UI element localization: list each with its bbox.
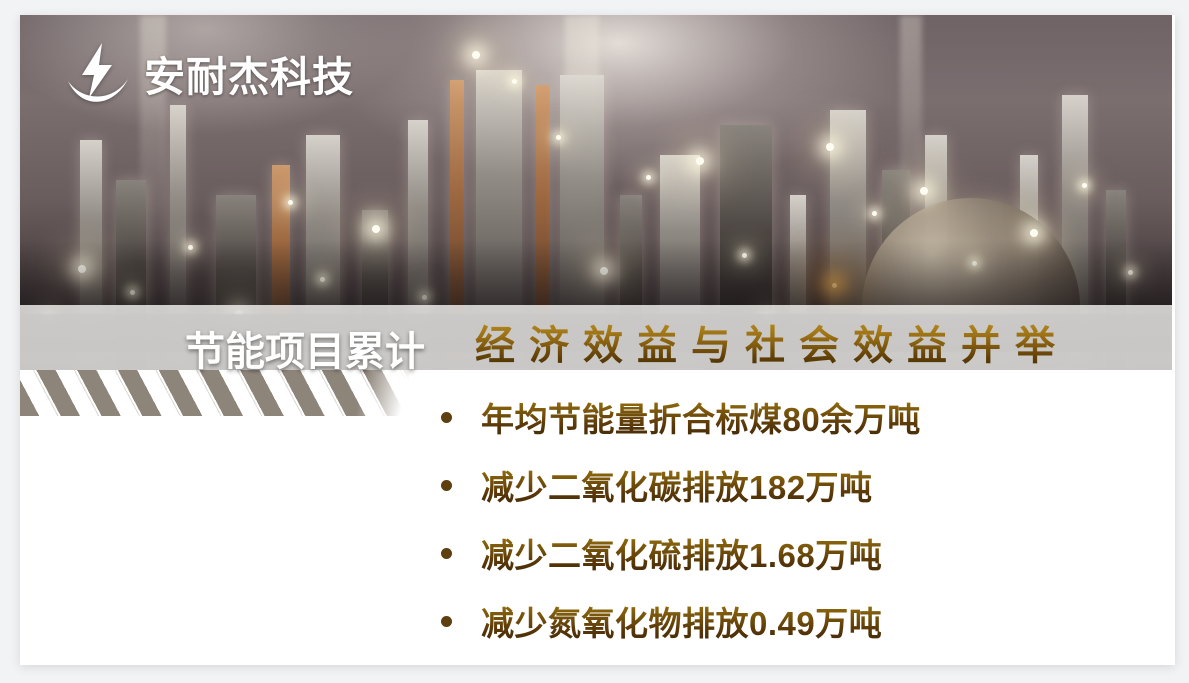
list-item-label: 减少二氧化硫排放1.68万吨 — [481, 529, 882, 577]
list-item-label: 减少二氧化碳排放182万吨 — [481, 461, 873, 509]
hero-image-lamp — [696, 157, 704, 165]
hero-image-lamp — [872, 211, 877, 216]
headline-title: 经济效益与社会效益并举 — [475, 313, 1069, 371]
lightning-bolt-swoosh-icon — [68, 41, 130, 113]
hero-image-lamp — [556, 135, 561, 140]
bullet-list: 年均节能量折合标煤80余万吨 减少二氧化碳排放182万吨 减少二氧化硫排放1.6… — [430, 383, 1130, 655]
bullet-dot-icon — [441, 480, 452, 491]
hero-image-lamp — [1030, 229, 1038, 237]
hero-image-lamp — [372, 225, 380, 233]
kicker-title: 节能项目累计 — [185, 319, 425, 377]
list-item: 减少二氧化硫排放1.68万吨 — [430, 519, 1130, 587]
company-logo: 安耐杰科技 — [68, 41, 354, 113]
hero-image-lamp — [512, 79, 517, 84]
bullet-dot-icon — [441, 616, 452, 627]
bullet-dot-icon — [441, 412, 452, 423]
bullet-dot-icon — [441, 548, 452, 559]
list-item-label: 年均节能量折合标煤80余万吨 — [481, 393, 921, 441]
hero-image-lamp — [472, 51, 480, 59]
hero-image-lamp — [920, 187, 928, 195]
presentation-slide: 安耐杰科技 经济效益与社会效益并举 节能项目累计 年均节能量折合标煤80余万吨 … — [20, 15, 1175, 665]
list-item: 减少氮氧化物排放0.49万吨 — [430, 587, 1130, 655]
company-name: 安耐杰科技 — [144, 57, 354, 98]
list-item: 减少二氧化碳排放182万吨 — [430, 451, 1130, 519]
list-item: 年均节能量折合标煤80余万吨 — [430, 383, 1130, 451]
hero-image-lamp — [1082, 183, 1087, 188]
list-item-label: 减少氮氧化物排放0.49万吨 — [481, 597, 882, 645]
hero-image-lamp — [646, 175, 651, 180]
hero-image-lamp — [288, 200, 293, 205]
hero-image-lamp — [826, 143, 834, 151]
